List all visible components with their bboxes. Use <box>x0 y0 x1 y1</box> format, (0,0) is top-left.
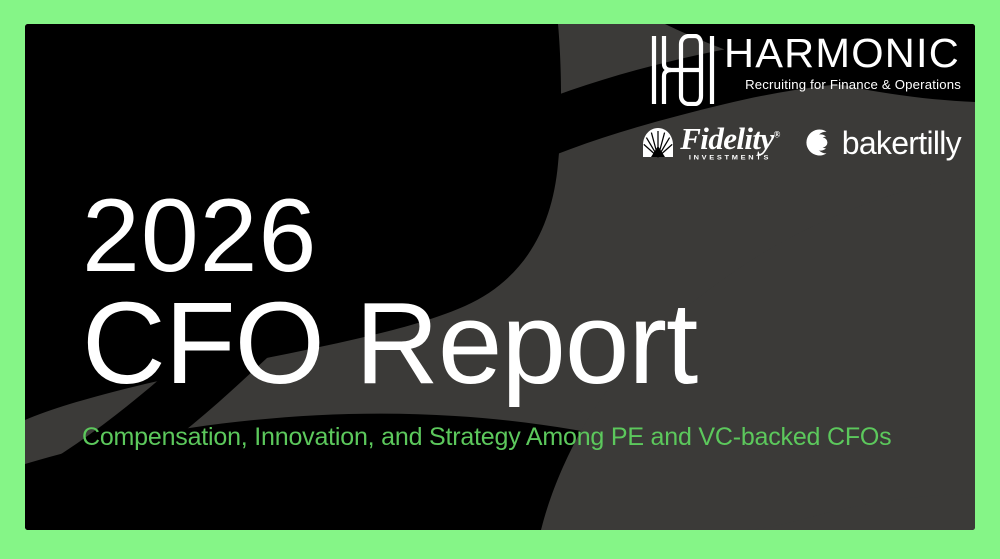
harmonic-tagline: Recruiting for Finance & Operations <box>724 77 961 92</box>
report-title: CFO Report <box>82 282 882 405</box>
bakertilly-logo: bakertilly <box>802 127 961 159</box>
fidelity-wordmark: Fidelity® <box>680 124 779 153</box>
logo-cluster: HARMONIC Recruiting for Finance & Operat… <box>541 34 961 162</box>
harmonic-wordblock: HARMONIC Recruiting for Finance & Operat… <box>724 34 961 92</box>
slide-green-frame: HARMONIC Recruiting for Finance & Operat… <box>0 0 1000 559</box>
fidelity-pyramid-sunburst-mark <box>641 126 675 160</box>
partner-logos: Fidelity® INVESTMENTS bakertilly <box>641 124 961 162</box>
report-subtitle: Compensation, Innovation, and Strategy A… <box>82 422 882 452</box>
bakertilly-spiral-mark <box>802 127 833 158</box>
harmonic-logo: HARMONIC Recruiting for Finance & Operat… <box>651 34 961 106</box>
svg-text:HARMONIC: HARMONIC <box>724 34 960 76</box>
fidelity-subtext: INVESTMENTS <box>680 155 779 161</box>
headline-block: 2026 CFO Report Compensation, Innovation… <box>82 184 882 452</box>
fidelity-logo: Fidelity® INVESTMENTS <box>641 124 779 162</box>
bakertilly-wordmark: bakertilly <box>842 127 961 159</box>
harmonic-double-h-mark <box>651 34 715 106</box>
content-layer: HARMONIC Recruiting for Finance & Operat… <box>25 24 975 530</box>
fidelity-text-block: Fidelity® INVESTMENTS <box>680 124 779 162</box>
year-heading: 2026 <box>82 184 882 288</box>
slide-canvas: HARMONIC Recruiting for Finance & Operat… <box>25 24 975 530</box>
harmonic-wordmark-text: HARMONIC <box>724 34 961 76</box>
